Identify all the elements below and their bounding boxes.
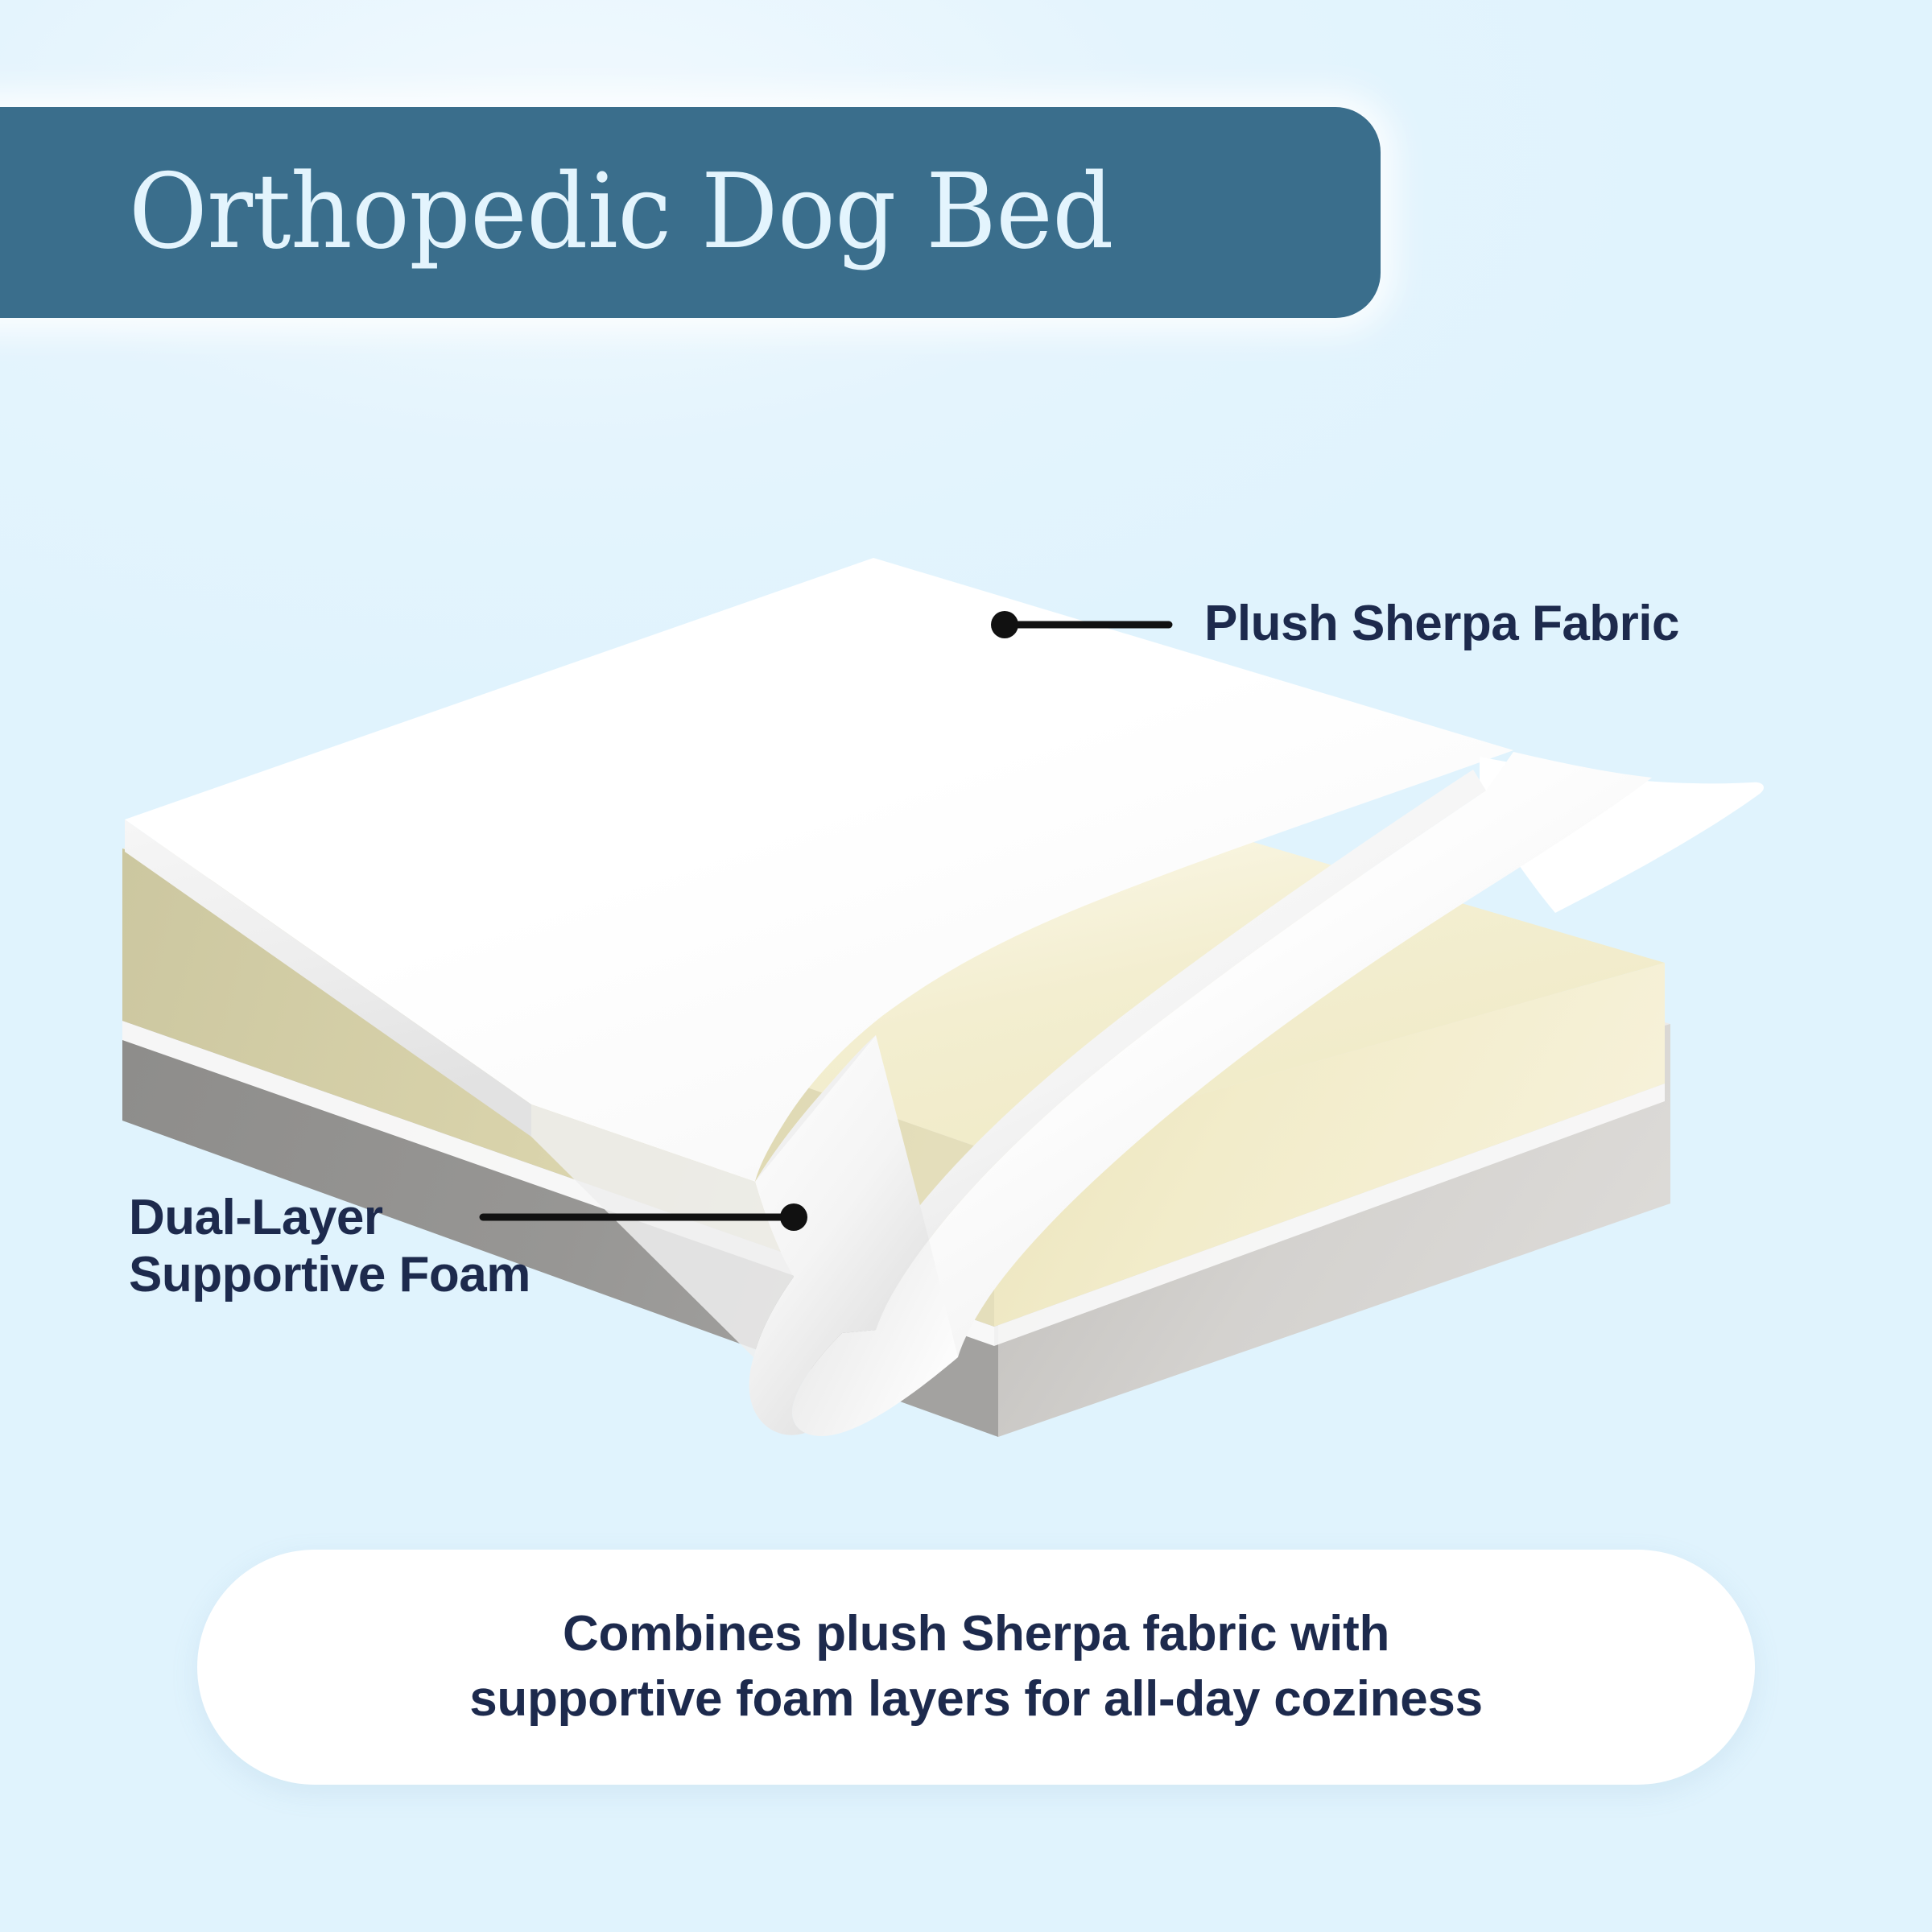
- layer-sherpa-fabric: [125, 558, 1764, 1436]
- infographic-canvas: Orthopedic Dog Bed: [0, 0, 1932, 1932]
- caption-text: Combines plush Sherpa fabric with suppor…: [421, 1602, 1531, 1732]
- page-title: Orthopedic Dog Bed: [129, 161, 1113, 264]
- title-banner: Orthopedic Dog Bed: [0, 107, 1381, 318]
- leader-dot-sherpa: [991, 611, 1018, 638]
- leader-line-sherpa: [991, 611, 1169, 638]
- caption-card: Combines plush Sherpa fabric with suppor…: [197, 1550, 1755, 1785]
- callout-label-sherpa: Plush Sherpa Fabric: [1204, 596, 1679, 653]
- callout-leaders: [483, 611, 1169, 1231]
- leader-line-foam: [483, 1203, 807, 1231]
- callout-label-foam: Dual-Layer Supportive Foam: [129, 1190, 530, 1303]
- leader-dot-foam: [780, 1203, 807, 1231]
- layer-base-foam: [122, 813, 1670, 1437]
